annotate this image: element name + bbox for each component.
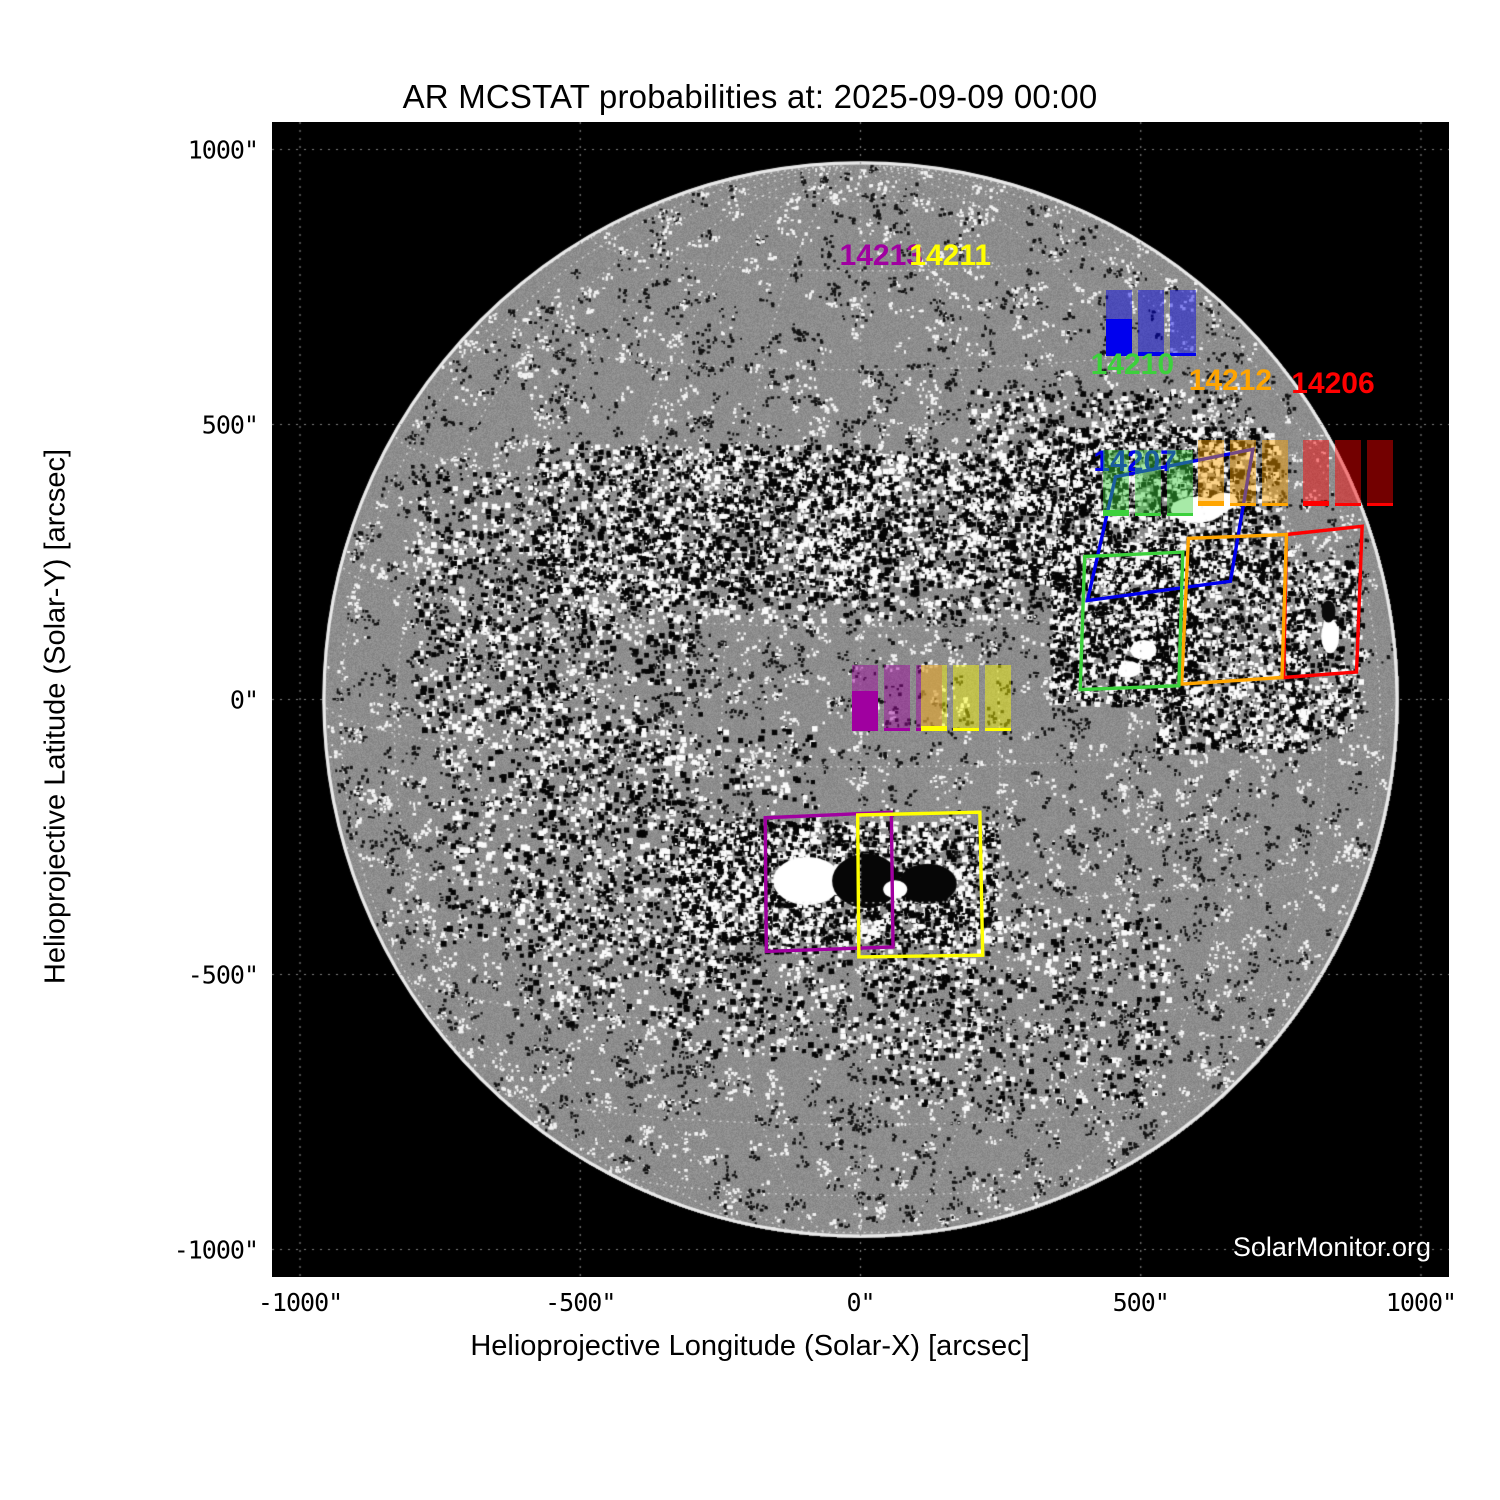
y-tick-label: -1000": [58, 1235, 258, 1264]
probability-bar-fill: [884, 728, 910, 731]
solar-monitor-figure: AR MCSTAT probabilities at: 2025-09-09 0…: [0, 0, 1500, 1500]
plot-area: 142071420614212142101421314211 SolarMoni…: [272, 122, 1449, 1277]
probability-bar: [1230, 440, 1256, 506]
probability-bar: [985, 665, 1011, 731]
probability-bar: [1198, 440, 1224, 506]
x-axis-label: Helioprojective Longitude (Solar-X) [arc…: [0, 1330, 1500, 1363]
probability-bar-fill: [1335, 503, 1361, 506]
probability-bar: [953, 665, 979, 731]
probability-bar-fill: [1198, 501, 1224, 506]
ar-annotation-layer: 142071420614212142101421314211: [272, 122, 1449, 1277]
probability-bar: [1335, 440, 1361, 506]
x-tick-label: -1000": [200, 1288, 400, 1317]
probability-bar-fill: [1303, 501, 1329, 506]
probability-bar-fill: [1103, 510, 1129, 517]
ar-number-label[interactable]: 14206: [1291, 367, 1374, 401]
probability-bar: [1138, 290, 1164, 356]
y-tick-label: -500": [58, 960, 258, 989]
y-tick-label: 1000": [58, 135, 258, 164]
probability-bar-fill: [1367, 503, 1393, 506]
probability-bar-fill: [985, 728, 1011, 731]
x-tick-label: 500": [1041, 1288, 1241, 1317]
y-tick-label: 0": [58, 685, 258, 714]
probability-bar-fill: [1135, 513, 1161, 516]
probability-bar: [1135, 450, 1161, 516]
probability-bar-fill: [1262, 503, 1288, 506]
ar-number-label[interactable]: 14210: [1091, 348, 1174, 382]
x-tick-label: -500": [480, 1288, 680, 1317]
probability-bar: [1167, 450, 1193, 516]
figure-title: AR MCSTAT probabilities at: 2025-09-09 0…: [0, 78, 1500, 116]
probability-bar-fill: [953, 728, 979, 731]
probability-bar: [1303, 440, 1329, 506]
probability-bar: [1262, 440, 1288, 506]
probability-bar-fill: [1230, 503, 1256, 506]
probability-bar: [1367, 440, 1393, 506]
probability-bar-fill: [1167, 513, 1193, 516]
probability-bar-fill: [852, 691, 878, 731]
x-tick-label: 0": [761, 1288, 961, 1317]
probability-bar: [1170, 290, 1196, 356]
x-tick-label: 1000": [1321, 1288, 1500, 1317]
probability-bar: [921, 665, 947, 731]
y-axis-label: Helioprojective Latitude (Solar-Y) [arcs…: [40, 367, 73, 1067]
y-tick-label: 500": [58, 410, 258, 439]
probability-bar-fill: [921, 726, 947, 731]
probability-bar: [884, 665, 910, 731]
ar-number-label[interactable]: 14211: [909, 239, 991, 273]
watermark: SolarMonitor.org: [1233, 1232, 1431, 1263]
ar-number-label[interactable]: 14212: [1189, 364, 1272, 398]
probability-bar: [1103, 450, 1129, 516]
